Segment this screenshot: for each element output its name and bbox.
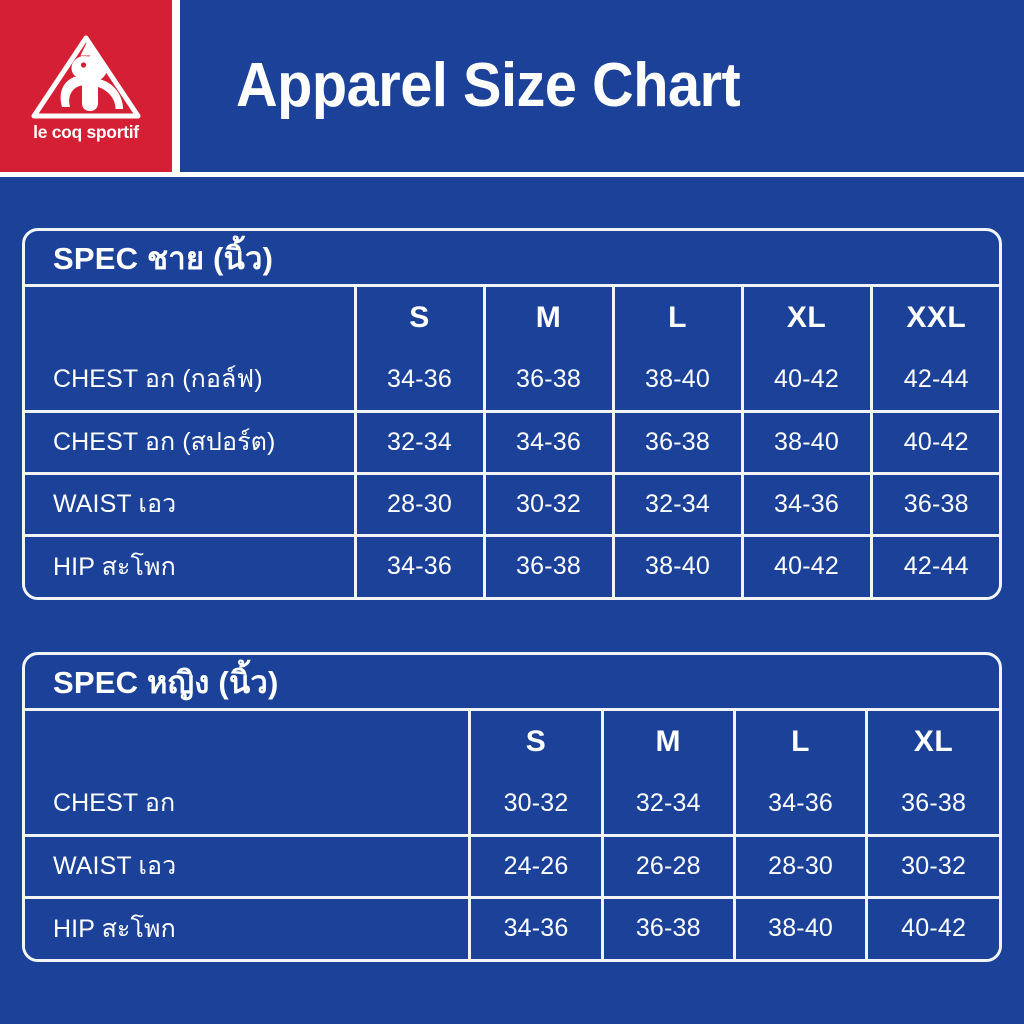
cell-value: 38-40: [613, 535, 742, 597]
column-header-m: M: [484, 287, 613, 349]
cell-value: 32-34: [355, 411, 484, 473]
row-label: WAIST เอว: [25, 835, 470, 897]
cell-value: 34-36: [470, 897, 602, 959]
cell-value: 28-30: [355, 473, 484, 535]
table-row: WAIST เอว 28-30 30-32 32-34 34-36 36-38: [25, 473, 1000, 535]
cell-value: 26-28: [602, 835, 734, 897]
cell-value: 42-44: [871, 535, 1000, 597]
cell-value: 30-32: [867, 835, 999, 897]
cell-value: 38-40: [613, 349, 742, 411]
cell-value: 36-38: [602, 897, 734, 959]
cell-value: 36-38: [484, 349, 613, 411]
spec-table-men: SPEC ชาย (นิ้ว) S M L XL XXL CHEST อก (ก…: [22, 228, 1002, 600]
spec-table-women: SPEC หญิง (นิ้ว) S M L XL CHEST อก 30-32…: [22, 652, 1002, 962]
column-header-xxl: XXL: [871, 287, 1000, 349]
column-header-label: [25, 711, 470, 773]
cell-value: 40-42: [871, 411, 1000, 473]
cell-value: 24-26: [470, 835, 602, 897]
cell-value: 32-34: [602, 773, 734, 835]
brand-logo-box: le coq sportif: [0, 0, 172, 172]
column-header-label: [25, 287, 355, 349]
cell-value: 34-36: [355, 535, 484, 597]
page-title: Apparel Size Chart: [236, 55, 740, 117]
size-grid-men: S M L XL XXL CHEST อก (กอล์ฟ) 34-36 36-3…: [25, 287, 1000, 597]
column-header-xl: XL: [867, 711, 999, 773]
row-label: WAIST เอว: [25, 473, 355, 535]
cell-value: 40-42: [742, 535, 871, 597]
cell-value: 36-38: [867, 773, 999, 835]
column-header-l: L: [613, 287, 742, 349]
cell-value: 36-38: [484, 535, 613, 597]
cell-value: 40-42: [742, 349, 871, 411]
table-row: HIP สะโพก 34-36 36-38 38-40 40-42: [25, 897, 999, 959]
cell-value: 30-32: [484, 473, 613, 535]
cell-value: 28-30: [734, 835, 866, 897]
cell-value: 38-40: [734, 897, 866, 959]
table-row: HIP สะโพก 34-36 36-38 38-40 40-42 42-44: [25, 535, 1000, 597]
spec-caption-women: SPEC หญิง (นิ้ว): [25, 655, 999, 711]
table-row: WAIST เอว 24-26 26-28 28-30 30-32: [25, 835, 999, 897]
brand-logo: le coq sportif: [23, 23, 149, 149]
spec-caption-men: SPEC ชาย (นิ้ว): [25, 231, 999, 287]
row-label: CHEST อก: [25, 773, 470, 835]
cell-value: 40-42: [867, 897, 999, 959]
cell-value: 36-38: [613, 411, 742, 473]
cell-value: 34-36: [484, 411, 613, 473]
cell-value: 34-36: [742, 473, 871, 535]
brand-wordmark: le coq sportif: [33, 124, 139, 142]
column-header-s: S: [355, 287, 484, 349]
table-header-row: S M L XL XXL: [25, 287, 1000, 349]
size-grid-women: S M L XL CHEST อก 30-32 32-34 34-36 36-3…: [25, 711, 999, 959]
cell-value: 38-40: [742, 411, 871, 473]
column-header-s: S: [470, 711, 602, 773]
cell-value: 32-34: [613, 473, 742, 535]
table-row: CHEST อก (สปอร์ต) 32-34 34-36 36-38 38-4…: [25, 411, 1000, 473]
table-header-row: S M L XL: [25, 711, 999, 773]
header-divider: [172, 0, 180, 172]
column-header-m: M: [602, 711, 734, 773]
column-header-xl: XL: [742, 287, 871, 349]
cell-value: 34-36: [734, 773, 866, 835]
cell-value: 30-32: [470, 773, 602, 835]
row-label: HIP สะโพก: [25, 897, 470, 959]
row-label: HIP สะโพก: [25, 535, 355, 597]
cell-value: 36-38: [871, 473, 1000, 535]
cell-value: 34-36: [355, 349, 484, 411]
table-row: CHEST อก (กอล์ฟ) 34-36 36-38 38-40 40-42…: [25, 349, 1000, 411]
page-title-area: Apparel Size Chart: [180, 0, 1024, 172]
rooster-triangle-icon: [30, 30, 142, 122]
cell-value: 42-44: [871, 349, 1000, 411]
header-bottom-rule: [0, 172, 1024, 177]
table-row: CHEST อก 30-32 32-34 34-36 36-38: [25, 773, 999, 835]
column-header-l: L: [734, 711, 866, 773]
row-label: CHEST อก (สปอร์ต): [25, 411, 355, 473]
page-header: le coq sportif Apparel Size Chart: [0, 0, 1024, 172]
row-label: CHEST อก (กอล์ฟ): [25, 349, 355, 411]
